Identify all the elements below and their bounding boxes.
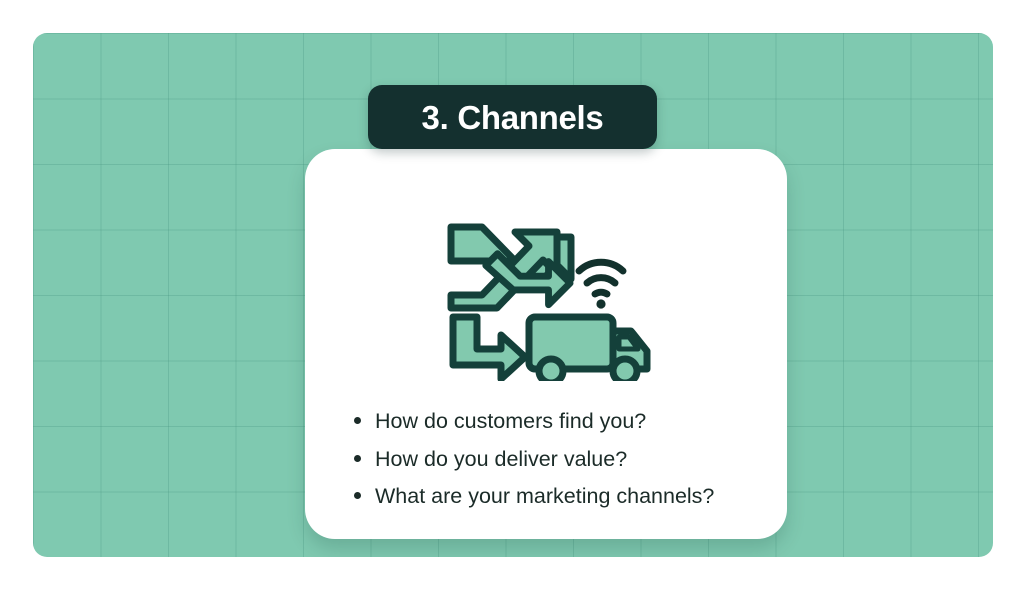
section-title-badge: 3. Channels bbox=[368, 85, 657, 149]
turn-right-arrow-icon bbox=[453, 317, 525, 379]
bullet-dot-icon bbox=[354, 455, 361, 462]
list-item-label: How do customers find you? bbox=[375, 407, 646, 437]
list-item-label: What are your marketing channels? bbox=[375, 482, 714, 512]
wifi-signal-icon bbox=[579, 262, 623, 308]
bullet-dot-icon bbox=[354, 492, 361, 499]
channels-distribution-icon bbox=[439, 211, 654, 381]
slide-root: How do customers find you? How do you de… bbox=[0, 0, 1024, 590]
questions-list: How do customers find you? How do you de… bbox=[305, 407, 787, 520]
list-item: How do customers find you? bbox=[354, 407, 646, 437]
page-title: 3. Channels bbox=[422, 101, 604, 134]
delivery-truck-icon bbox=[529, 317, 647, 381]
content-card: How do customers find you? How do you de… bbox=[305, 149, 787, 539]
list-item: How do you deliver value? bbox=[354, 445, 627, 475]
bullet-dot-icon bbox=[354, 417, 361, 424]
list-item: What are your marketing channels? bbox=[354, 482, 714, 512]
shuffle-arrows-icon bbox=[451, 227, 577, 317]
list-item-label: How do you deliver value? bbox=[375, 445, 627, 475]
icon-container bbox=[305, 211, 787, 381]
